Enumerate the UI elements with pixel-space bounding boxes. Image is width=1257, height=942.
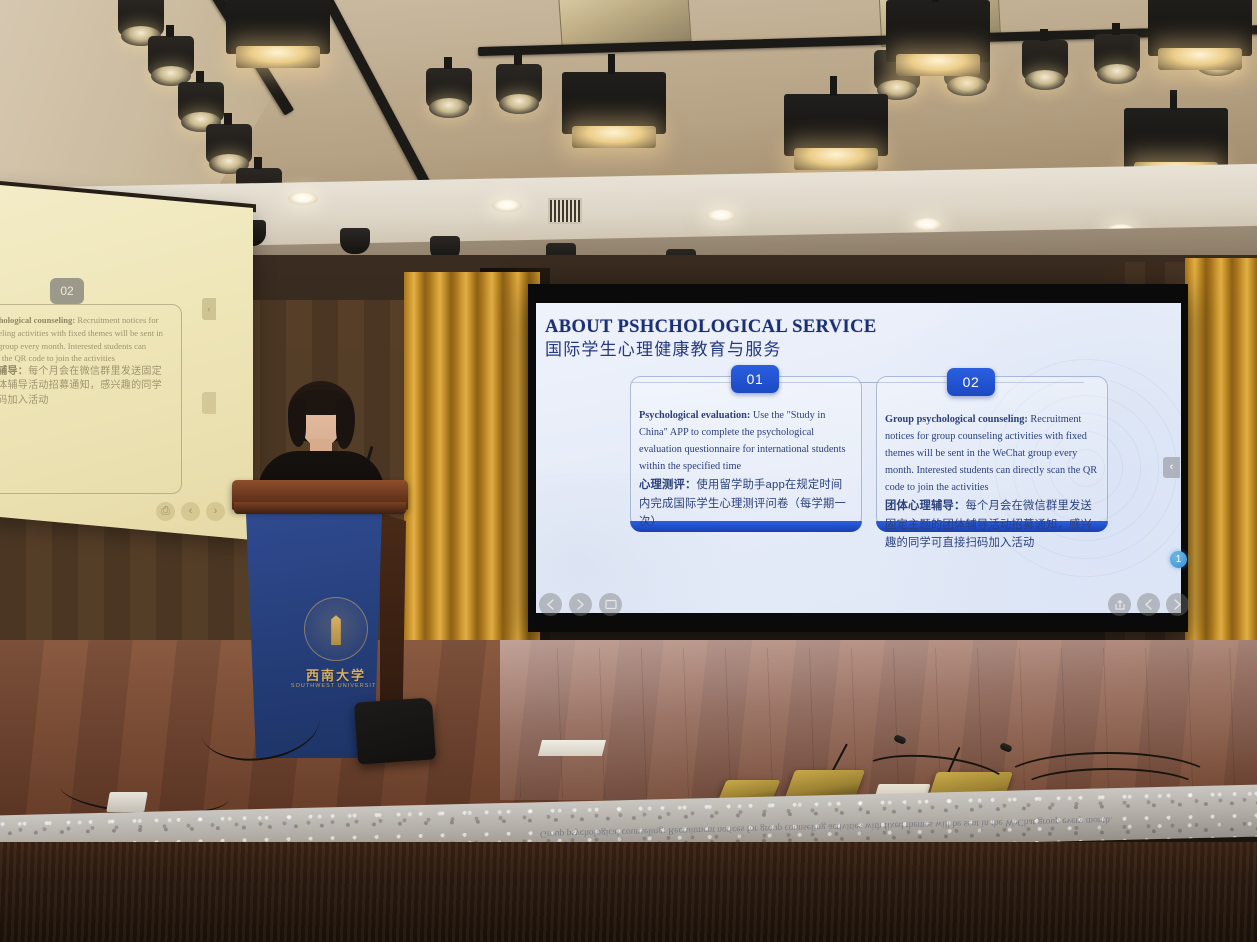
par-can-light bbox=[206, 124, 252, 164]
left-screen-collapse-tab[interactable]: ‹ bbox=[202, 298, 216, 320]
lectern-top-lip bbox=[234, 502, 406, 514]
stage-flood-light bbox=[562, 72, 666, 134]
recessed-downlight bbox=[912, 218, 942, 231]
card-02-heading-en: Group psychological counseling: bbox=[885, 414, 1028, 425]
recessed-downlight bbox=[492, 199, 522, 212]
left-projection-screen[interactable]: 02 Group psychological counseling: Recru… bbox=[0, 184, 253, 540]
stage-flood-light bbox=[1124, 108, 1228, 170]
floor-power-box bbox=[106, 792, 148, 812]
dome-camera bbox=[340, 228, 370, 254]
university-name-chinese: 西南大学 bbox=[290, 665, 382, 684]
par-can-light bbox=[426, 68, 472, 108]
left-screen-heading-cn: 团体心理辅导： bbox=[0, 366, 28, 377]
slide-controls-left[interactable] bbox=[539, 593, 622, 616]
stage-flood-light bbox=[784, 94, 888, 156]
slide-card-01-body: Psychological evaluation: Use the "Study… bbox=[639, 407, 853, 531]
left-screen-cast-icon[interactable]: ⎙ bbox=[156, 502, 175, 521]
prev-slide-button[interactable] bbox=[539, 593, 562, 616]
stage-flood-light bbox=[1148, 0, 1252, 56]
par-can-light bbox=[1022, 40, 1068, 80]
university-name-english: SOUTHWEST UNIVERSITY bbox=[290, 683, 382, 689]
left-screen-heading-en: Group psychological counseling: bbox=[0, 315, 75, 325]
cast-screen-button[interactable] bbox=[599, 593, 622, 616]
par-can-light bbox=[148, 36, 194, 76]
stage-curtain bbox=[1185, 258, 1257, 662]
card-01-heading-en: Psychological evaluation: bbox=[639, 410, 750, 421]
par-can-light bbox=[178, 82, 224, 122]
par-can-light bbox=[118, 0, 164, 36]
stage-front-texture bbox=[0, 842, 1257, 942]
card-02-body-en: Recruitment notices for group counseling… bbox=[885, 414, 1097, 493]
presentation-slide[interactable]: ABOUT PSHCHOLOGICAL SERVICE 国际学生心理健康教育与服… bbox=[536, 303, 1181, 613]
slide-page-badge[interactable]: 1 bbox=[1170, 551, 1187, 568]
stage-curtain bbox=[404, 272, 540, 662]
auditorium-photo: 02 Group psychological counseling: Recru… bbox=[0, 0, 1257, 942]
left-screen-text: Group psychological counseling: Recruitm… bbox=[0, 314, 168, 408]
next-slide-button[interactable] bbox=[569, 593, 592, 616]
bag-on-floor bbox=[354, 697, 436, 764]
left-screen-number-badge: 02 bbox=[50, 278, 84, 304]
paper-on-floor bbox=[538, 740, 606, 756]
recessed-downlight bbox=[706, 209, 736, 222]
card-02-heading-cn: 团体心理辅导： bbox=[885, 500, 965, 512]
slide-card-02-number-badge: 02 bbox=[947, 368, 995, 396]
par-can-light bbox=[1094, 34, 1140, 74]
next-page-button[interactable] bbox=[1166, 593, 1189, 616]
stage-flood-light bbox=[886, 0, 990, 62]
recessed-downlight bbox=[288, 192, 318, 205]
stage-flood-light bbox=[226, 0, 330, 54]
left-screen-next-icon[interactable]: › bbox=[206, 502, 225, 521]
slide-card-01-number-badge: 01 bbox=[731, 365, 779, 393]
share-button[interactable] bbox=[1108, 593, 1131, 616]
par-can-light bbox=[496, 64, 542, 104]
slide-collapse-tab[interactable]: ‹ bbox=[1163, 457, 1180, 478]
slide-card-02-body: Group psychological counseling: Recruitm… bbox=[885, 411, 1099, 552]
left-screen-prev-icon[interactable]: ‹ bbox=[181, 502, 200, 521]
ceiling-air-vent bbox=[548, 198, 582, 224]
slide-title-chinese: 国际学生心理健康教育与服务 bbox=[545, 335, 782, 360]
left-screen-side-tab[interactable] bbox=[202, 392, 216, 414]
card-01-heading-cn: 心理测评： bbox=[639, 479, 697, 491]
presenter-hair-left bbox=[288, 399, 306, 447]
university-emblem-icon bbox=[304, 597, 368, 661]
left-screen-controls[interactable]: ⎙ ‹ › bbox=[156, 502, 225, 521]
prev-page-button[interactable] bbox=[1137, 593, 1160, 616]
slide-controls-right[interactable] bbox=[1108, 593, 1189, 616]
